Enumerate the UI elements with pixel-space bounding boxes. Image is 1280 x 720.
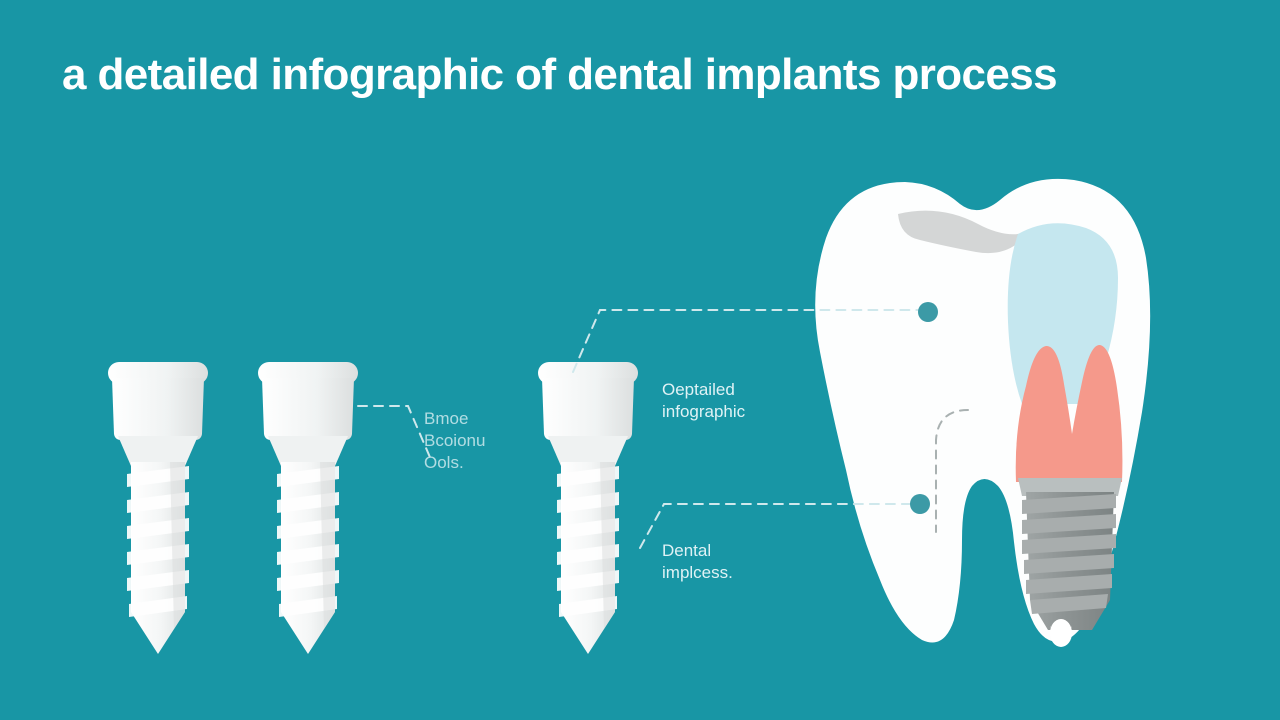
molar-tooth-cross-section <box>815 179 1150 647</box>
implant-screw-2 <box>258 362 358 654</box>
implant-screw-1 <box>108 362 208 654</box>
callout-detailed-infographic: Oeptailed infographic <box>662 379 745 423</box>
connector-garbled-note <box>358 406 432 462</box>
callout-garbled-note: Bmoe Bcoionu Ools. <box>424 408 485 474</box>
implant-screw-3 <box>538 362 638 654</box>
anchor-dot-upper[interactable] <box>918 302 938 322</box>
infographic-canvas: a detailed infographic of dental implant… <box>0 0 1280 720</box>
illustration-layer <box>0 0 1280 720</box>
anchor-dot-lower[interactable] <box>910 494 930 514</box>
callout-dental-implcess: Dental implcess. <box>662 540 733 584</box>
